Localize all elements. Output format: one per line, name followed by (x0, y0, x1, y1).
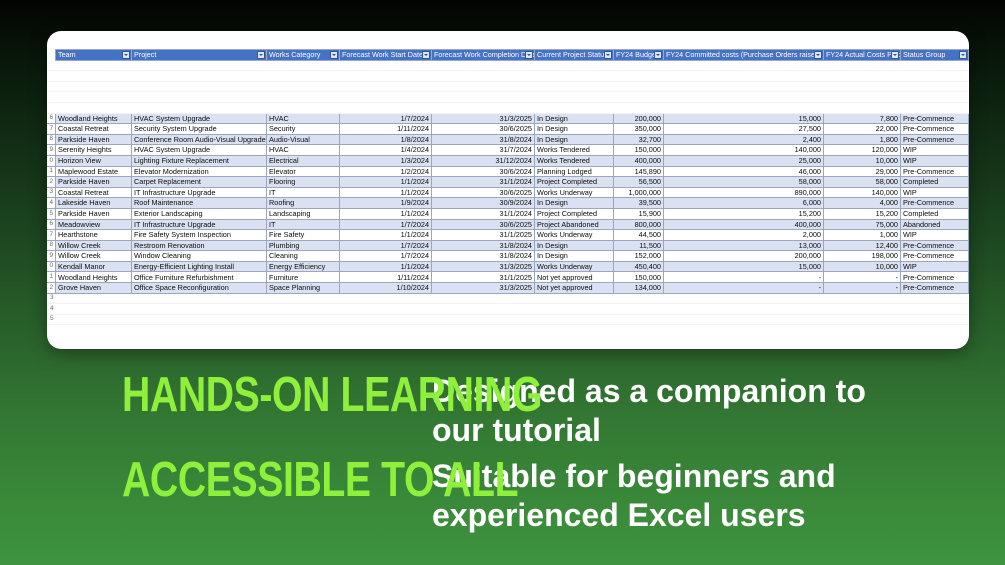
cell-cps[interactable]: In Design (535, 113, 614, 124)
cell-act[interactable]: 4,000 (824, 198, 901, 209)
cell-cat[interactable]: Furniture (267, 272, 340, 283)
cell-fwc[interactable]: 31/8/2024 (432, 251, 535, 262)
cell-cps[interactable]: Works Underway (535, 187, 614, 198)
table-row[interactable]: 2Grove HavenOffice Space Reconfiguration… (47, 283, 969, 294)
cell-team[interactable]: Horizon View (56, 155, 132, 166)
cell-fwc[interactable]: 30/6/2024 (432, 166, 535, 177)
cell-act[interactable]: 29,000 (824, 166, 901, 177)
cell-com[interactable]: 15,000 (664, 113, 824, 124)
cell-proj[interactable]: IT Infrastructure Upgrade (132, 219, 267, 230)
cell-proj[interactable]: Office Space Reconfiguration (132, 283, 267, 294)
cell-act[interactable]: 58,000 (824, 177, 901, 188)
table-row[interactable]: 1Maplewood EstateElevator ModernizationE… (47, 166, 969, 177)
cell-com[interactable]: 2,000 (664, 230, 824, 241)
cell-cat[interactable]: Plumbing (267, 240, 340, 251)
cell-fwc[interactable]: 31/1/2025 (432, 230, 535, 241)
row-number[interactable]: 6 (47, 113, 56, 124)
cell-cat[interactable]: HVAC (267, 113, 340, 124)
row-number (47, 92, 56, 103)
cell-proj[interactable]: Fire Safety System Inspection (132, 230, 267, 241)
column-header-cat[interactable]: Works Category (267, 50, 340, 61)
table-body[interactable]: 6Woodland HeightsHVAC System UpgradeHVAC… (47, 113, 969, 293)
row-number: 4 (47, 304, 56, 315)
cell-fwc[interactable]: 31/7/2024 (432, 145, 535, 156)
cell-com[interactable]: 2,400 (664, 134, 824, 145)
cell-team[interactable]: Parkside Haven (56, 134, 132, 145)
cell-grp[interactable]: Completed (901, 208, 969, 219)
cell-proj[interactable]: Security System Upgrade (132, 124, 267, 135)
row-number[interactable]: 1 (47, 166, 56, 177)
column-header-com[interactable]: FY24 Committed costs (Purchase Orders ra… (664, 50, 824, 61)
cell-bud[interactable]: 15,900 (614, 208, 664, 219)
cell-cps[interactable]: Project Completed (535, 208, 614, 219)
row-number[interactable]: 2 (47, 177, 56, 188)
cell-fws[interactable]: 1/11/2024 (340, 272, 432, 283)
cell-grp[interactable]: Pre-Commence (901, 166, 969, 177)
cell-team[interactable]: Kendall Manor (56, 261, 132, 272)
row-number[interactable]: 8 (47, 134, 56, 145)
cell-cat[interactable]: Security (267, 124, 340, 135)
table-row[interactable]: 0Horizon ViewLighting Fixture Replacemen… (47, 155, 969, 166)
column-header-label: Current Project Status (537, 50, 608, 59)
row-number[interactable]: 1 (47, 272, 56, 283)
filter-dropdown-icon[interactable] (257, 51, 265, 59)
row-number (47, 81, 56, 92)
table-row[interactable]: 3Coastal RetreatIT Infrastructure Upgrad… (47, 187, 969, 198)
cell-fws[interactable]: 1/7/2024 (340, 113, 432, 124)
cell-proj[interactable]: HVAC System Upgrade (132, 113, 267, 124)
table-row[interactable]: 8Willow CreekRestroom RenovationPlumbing… (47, 240, 969, 251)
cell-fws[interactable]: 1/4/2024 (340, 145, 432, 156)
cell-cps[interactable]: Project Completed (535, 177, 614, 188)
cell-bud[interactable]: 150,000 (614, 272, 664, 283)
promo-band: HANDS-ON LEARNING Designed as a companio… (0, 360, 1005, 565)
cell-grp[interactable]: WIP (901, 230, 969, 241)
cell-team[interactable]: Woodland Heights (56, 272, 132, 283)
cell-grp[interactable]: WIP (901, 145, 969, 156)
project-table[interactable]: TeamProjectWorks CategoryForecast Work S… (47, 49, 969, 325)
cell-fws[interactable]: 1/11/2024 (340, 124, 432, 135)
cell-fws[interactable]: 1/3/2024 (340, 155, 432, 166)
row-number[interactable]: 7 (47, 124, 56, 135)
cell-act[interactable]: 75,000 (824, 219, 901, 230)
empty-cell[interactable] (56, 71, 969, 82)
cell-cps[interactable]: Not yet approved (535, 283, 614, 294)
promo-item-2: ACCESSIBLE TO ALL Suitable for beginners… (0, 457, 1005, 535)
cell-cat[interactable]: Elevator (267, 166, 340, 177)
filter-dropdown-icon[interactable] (891, 51, 899, 59)
cell-bud[interactable]: 150,000 (614, 145, 664, 156)
cell-bud[interactable]: 152,000 (614, 251, 664, 262)
empty-cell[interactable] (56, 81, 969, 92)
cell-cps[interactable]: Works Underway (535, 261, 614, 272)
cell-cat[interactable]: Energy Efficiency (267, 261, 340, 272)
cell-bud[interactable]: 350,000 (614, 124, 664, 135)
spreadsheet-card: TeamProjectWorks CategoryForecast Work S… (47, 31, 969, 349)
empty-rows-above-table (47, 60, 969, 113)
cell-bud[interactable]: 11,500 (614, 240, 664, 251)
cell-fwc[interactable]: 31/8/2024 (432, 240, 535, 251)
cell-grp[interactable]: Pre-Commence (901, 134, 969, 145)
empty-sheet-row[interactable]: 3 (47, 293, 969, 304)
cell-fws[interactable]: 1/1/2024 (340, 261, 432, 272)
cell-fwc[interactable]: 30/6/2025 (432, 124, 535, 135)
cell-grp[interactable]: Pre-Commence (901, 272, 969, 283)
cell-act[interactable]: 12,400 (824, 240, 901, 251)
cell-fws[interactable]: 1/2/2024 (340, 166, 432, 177)
cell-team[interactable]: Parkside Haven (56, 208, 132, 219)
cell-bud[interactable]: 400,000 (614, 155, 664, 166)
table-row[interactable]: 9Willow CreekWindow CleaningCleaning1/7/… (47, 251, 969, 262)
cell-fwc[interactable]: 31/8/2024 (432, 134, 535, 145)
cell-fwc[interactable]: 31/1/2025 (432, 272, 535, 283)
cell-grp[interactable]: Pre-Commence (901, 113, 969, 124)
cell-cat[interactable]: HVAC (267, 145, 340, 156)
cell-com[interactable]: 6,000 (664, 198, 824, 209)
filter-dropdown-icon[interactable] (422, 51, 430, 59)
cell-grp[interactable]: Pre-Commence (901, 124, 969, 135)
table-header-row[interactable]: TeamProjectWorks CategoryForecast Work S… (47, 50, 969, 61)
cell-com[interactable]: 58,000 (664, 177, 824, 188)
filter-dropdown-icon[interactable] (525, 51, 533, 59)
cell-com[interactable]: 15,200 (664, 208, 824, 219)
cell-act[interactable]: 7,800 (824, 113, 901, 124)
cell-cps[interactable]: Works Tendered (535, 145, 614, 156)
cell-bud[interactable]: 134,000 (614, 283, 664, 294)
cell-com[interactable]: 25,000 (664, 155, 824, 166)
cell-fws[interactable]: 1/8/2024 (340, 134, 432, 145)
cell-act[interactable]: 10,000 (824, 155, 901, 166)
column-header-label: Forecast Work Completion Date (434, 50, 535, 59)
cell-proj[interactable]: Carpet Replacement (132, 177, 267, 188)
cell-grp[interactable]: Abandoned (901, 219, 969, 230)
cell-com[interactable]: 200,000 (664, 251, 824, 262)
row-number[interactable]: 0 (47, 261, 56, 272)
cell-cps[interactable]: Project Abandoned (535, 219, 614, 230)
column-header-team[interactable]: Team (56, 50, 132, 61)
promo-headline-1: HANDS-ON LEARNING (122, 372, 370, 419)
cell-team[interactable]: Meadowview (56, 219, 132, 230)
column-header-fws[interactable]: Forecast Work Start Date (340, 50, 432, 61)
row-number[interactable]: 9 (47, 251, 56, 262)
cell-act[interactable]: 22,000 (824, 124, 901, 135)
cell-team[interactable]: Coastal Retreat (56, 124, 132, 135)
cell-fws[interactable]: 1/10/2024 (340, 283, 432, 294)
cell-act[interactable]: 140,000 (824, 187, 901, 198)
table-row[interactable]: 9Serenity HeightsHVAC System UpgradeHVAC… (47, 145, 969, 156)
cell-grp[interactable]: Pre-Commence (901, 240, 969, 251)
cell-fws[interactable]: 1/1/2024 (340, 230, 432, 241)
filter-dropdown-icon[interactable] (122, 51, 130, 59)
cell-cat[interactable]: Cleaning (267, 251, 340, 262)
cell-com[interactable]: 15,000 (664, 261, 824, 272)
column-header-grp[interactable]: Status Group (901, 50, 969, 61)
empty-sheet-row[interactable] (47, 92, 969, 103)
cell-act[interactable]: 10,000 (824, 261, 901, 272)
column-header-label: Status Group (903, 50, 945, 59)
cell-com[interactable]: 46,000 (664, 166, 824, 177)
cell-proj[interactable]: Lighting Fixture Replacement (132, 155, 267, 166)
empty-cell[interactable] (56, 60, 969, 71)
cell-fwc[interactable]: 31/1/2024 (432, 208, 535, 219)
empty-cell[interactable] (56, 314, 969, 325)
table-row[interactable]: 7HearthstoneFire Safety System Inspectio… (47, 230, 969, 241)
cell-fws[interactable]: 1/7/2024 (340, 219, 432, 230)
cell-grp[interactable]: Pre-Commence (901, 251, 969, 262)
row-number[interactable]: 8 (47, 240, 56, 251)
cell-grp[interactable]: Pre-Commence (901, 283, 969, 294)
column-header-label: Project (134, 50, 156, 59)
cell-team[interactable]: Hearthstone (56, 230, 132, 241)
cell-proj[interactable]: Exterior Landscaping (132, 208, 267, 219)
cell-grp[interactable]: Completed (901, 177, 969, 188)
cell-act[interactable]: - (824, 283, 901, 294)
table-row[interactable]: 8Parkside HavenConference Room Audio-Vis… (47, 134, 969, 145)
cell-team[interactable]: Willow Creek (56, 240, 132, 251)
row-number[interactable]: 0 (47, 155, 56, 166)
row-number[interactable]: 4 (47, 198, 56, 209)
column-header-act[interactable]: FY24 Actual Costs Paid (824, 50, 901, 61)
column-header-label: Works Category (269, 50, 320, 59)
empty-cell[interactable] (56, 92, 969, 103)
cell-fws[interactable]: 1/7/2024 (340, 240, 432, 251)
cell-grp[interactable]: WIP (901, 155, 969, 166)
table-row[interactable]: 2Parkside HavenCarpet ReplacementFloorin… (47, 177, 969, 188)
cell-bud[interactable]: 44,500 (614, 230, 664, 241)
row-number[interactable]: 7 (47, 230, 56, 241)
cell-com[interactable]: 140,000 (664, 145, 824, 156)
cell-cps[interactable]: Not yet approved (535, 272, 614, 283)
empty-rows-below-table: 345 (47, 293, 969, 325)
cell-proj[interactable]: IT Infrastructure Upgrade (132, 187, 267, 198)
cell-cat[interactable]: Landscaping (267, 208, 340, 219)
cell-cat[interactable]: Fire Safety (267, 230, 340, 241)
cell-cps[interactable]: In Design (535, 251, 614, 262)
filter-dropdown-icon[interactable] (604, 51, 612, 59)
promo-item-1: HANDS-ON LEARNING Designed as a companio… (0, 372, 1005, 450)
cell-cat[interactable]: Flooring (267, 177, 340, 188)
cell-fwc[interactable]: 30/6/2025 (432, 187, 535, 198)
cell-fws[interactable]: 1/7/2024 (340, 251, 432, 262)
cell-fwc[interactable]: 31/3/2025 (432, 261, 535, 272)
cell-com[interactable]: 13,000 (664, 240, 824, 251)
cell-fwc[interactable]: 30/6/2025 (432, 219, 535, 230)
cell-com[interactable]: 27,500 (664, 124, 824, 135)
row-number (47, 102, 56, 113)
column-header-label: FY24 Committed costs (Purchase Orders ra… (666, 50, 821, 59)
cell-proj[interactable]: Roof Maintenance (132, 198, 267, 209)
table-row[interactable]: 6Woodland HeightsHVAC System UpgradeHVAC… (47, 113, 969, 124)
filter-dropdown-icon[interactable] (814, 51, 822, 59)
cell-team[interactable]: Parkside Haven (56, 177, 132, 188)
cell-act[interactable]: 198,000 (824, 251, 901, 262)
cell-fwc[interactable]: 31/1/2024 (432, 177, 535, 188)
cell-act[interactable]: 1,800 (824, 134, 901, 145)
cell-proj[interactable]: Restroom Renovation (132, 240, 267, 251)
cell-grp[interactable]: WIP (901, 261, 969, 272)
column-header-cps[interactable]: Current Project Status (535, 50, 614, 61)
cell-bud[interactable]: 1,000,000 (614, 187, 664, 198)
cell-cps[interactable]: Planning Lodged (535, 166, 614, 177)
row-number-corner (47, 50, 56, 61)
table-row[interactable]: 7Coastal RetreatSecurity System UpgradeS… (47, 124, 969, 135)
cell-fwc[interactable]: 31/3/2025 (432, 113, 535, 124)
cell-fwc[interactable]: 31/12/2024 (432, 155, 535, 166)
row-number[interactable]: 5 (47, 208, 56, 219)
table-row[interactable]: 0Kendall ManorEnergy-Efficient Lighting … (47, 261, 969, 272)
spreadsheet-grid[interactable]: TeamProjectWorks CategoryForecast Work S… (47, 49, 969, 325)
cell-cps[interactable]: In Design (535, 240, 614, 251)
cell-act[interactable]: 15,200 (824, 208, 901, 219)
column-header-label: FY24 Budget (616, 50, 658, 59)
cell-grp[interactable]: Pre-Commence (901, 198, 969, 209)
cell-team[interactable]: Coastal Retreat (56, 187, 132, 198)
empty-cell[interactable] (56, 293, 969, 304)
cell-com[interactable]: 400,000 (664, 219, 824, 230)
cell-cps[interactable]: Works Tendered (535, 155, 614, 166)
cell-team[interactable]: Willow Creek (56, 251, 132, 262)
cell-cps[interactable]: Works Underway (535, 230, 614, 241)
cell-bud[interactable]: 200,000 (614, 113, 664, 124)
filter-dropdown-icon[interactable] (959, 51, 967, 59)
cell-cat[interactable]: IT (267, 187, 340, 198)
table-row[interactable]: 5Parkside HavenExterior LandscapingLands… (47, 208, 969, 219)
cell-cat[interactable]: Audio-Visual (267, 134, 340, 145)
cell-bud[interactable]: 56,500 (614, 177, 664, 188)
cell-act[interactable]: - (824, 272, 901, 283)
cell-bud[interactable]: 145,890 (614, 166, 664, 177)
empty-sheet-row[interactable]: 5 (47, 314, 969, 325)
cell-fwc[interactable]: 31/3/2025 (432, 283, 535, 294)
cell-proj[interactable]: Elevator Modernization (132, 166, 267, 177)
row-number: 5 (47, 314, 56, 325)
cell-cps[interactable]: In Design (535, 124, 614, 135)
row-number[interactable]: 6 (47, 219, 56, 230)
cell-bud[interactable]: 32,700 (614, 134, 664, 145)
cell-team[interactable]: Lakeside Haven (56, 198, 132, 209)
cell-cat[interactable]: Space Planning (267, 283, 340, 294)
cell-bud[interactable]: 450,400 (614, 261, 664, 272)
cell-team[interactable]: Grove Haven (56, 283, 132, 294)
cell-bud[interactable]: 39,500 (614, 198, 664, 209)
cell-fws[interactable]: 1/9/2024 (340, 198, 432, 209)
row-number[interactable]: 3 (47, 187, 56, 198)
column-header-fwc[interactable]: Forecast Work Completion Date (432, 50, 535, 61)
cell-cat[interactable]: Roofing (267, 198, 340, 209)
table-row[interactable]: 1Woodland HeightsOffice Furniture Refurb… (47, 272, 969, 283)
cell-grp[interactable]: WIP (901, 187, 969, 198)
row-number[interactable]: 2 (47, 283, 56, 294)
empty-cell[interactable] (56, 304, 969, 315)
cell-cat[interactable]: IT (267, 219, 340, 230)
cell-cat[interactable]: Electrical (267, 155, 340, 166)
cell-cps[interactable]: In Design (535, 134, 614, 145)
cell-team[interactable]: Woodland Heights (56, 113, 132, 124)
cell-bud[interactable]: 800,000 (614, 219, 664, 230)
empty-sheet-row[interactable] (47, 81, 969, 92)
cell-proj[interactable]: Window Cleaning (132, 251, 267, 262)
column-header-proj[interactable]: Project (132, 50, 267, 61)
row-number (47, 71, 56, 82)
cell-proj[interactable]: Conference Room Audio-Visual Upgrade (132, 134, 267, 145)
promo-headline-2: ACCESSIBLE TO ALL (122, 457, 370, 504)
empty-sheet-row[interactable]: 4 (47, 304, 969, 315)
empty-sheet-row[interactable] (47, 71, 969, 82)
cell-team[interactable]: Maplewood Estate (56, 166, 132, 177)
cell-proj[interactable]: Energy-Efficient Lighting Install (132, 261, 267, 272)
column-header-label: Forecast Work Start Date (342, 50, 423, 59)
empty-cell[interactable] (56, 102, 969, 113)
cell-cps[interactable]: In Design (535, 198, 614, 209)
filter-dropdown-icon[interactable] (654, 51, 662, 59)
empty-sheet-row[interactable] (47, 60, 969, 71)
cell-com[interactable]: - (664, 272, 824, 283)
cell-act[interactable]: 1,000 (824, 230, 901, 241)
cell-act[interactable]: 120,000 (824, 145, 901, 156)
cell-team[interactable]: Serenity Heights (56, 145, 132, 156)
cell-com[interactable]: - (664, 283, 824, 294)
table-row[interactable]: 6MeadowviewIT Infrastructure UpgradeIT1/… (47, 219, 969, 230)
cell-proj[interactable]: Office Furniture Refurbishment (132, 272, 267, 283)
cell-com[interactable]: 890,000 (664, 187, 824, 198)
cell-fwc[interactable]: 30/9/2024 (432, 198, 535, 209)
cell-fws[interactable]: 1/1/2024 (340, 177, 432, 188)
row-number[interactable]: 9 (47, 145, 56, 156)
row-number (47, 60, 56, 71)
row-number: 3 (47, 293, 56, 304)
column-header-label: Team (58, 50, 76, 59)
column-header-bud[interactable]: FY24 Budget (614, 50, 664, 61)
table-row[interactable]: 4Lakeside HavenRoof MaintenanceRoofing1/… (47, 198, 969, 209)
cell-fws[interactable]: 1/1/2024 (340, 208, 432, 219)
filter-dropdown-icon[interactable] (330, 51, 338, 59)
column-header-label: FY24 Actual Costs Paid (826, 50, 901, 59)
empty-sheet-row[interactable] (47, 102, 969, 113)
cell-proj[interactable]: HVAC System Upgrade (132, 145, 267, 156)
cell-fws[interactable]: 1/1/2024 (340, 187, 432, 198)
